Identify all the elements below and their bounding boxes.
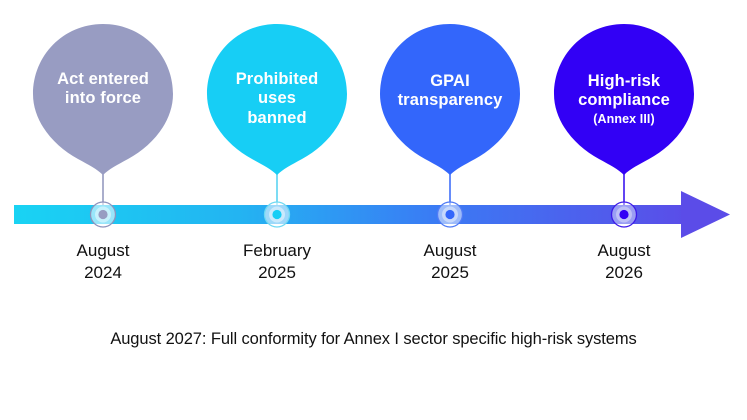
- balloon-act-entered-into-force[interactable]: [33, 24, 173, 175]
- timeline-marker-4[interactable]: [612, 202, 637, 227]
- date-label-2-year: 2025: [207, 262, 347, 284]
- marker-dot-4: [619, 210, 628, 219]
- date-label-3: August 2025: [380, 240, 520, 284]
- date-label-3-month: August: [380, 240, 520, 262]
- date-label-1-month: August: [33, 240, 173, 262]
- balloon-gpai-transparency[interactable]: [380, 24, 520, 175]
- timeline-marker-1[interactable]: [91, 202, 116, 227]
- marker-dot-2: [272, 210, 281, 219]
- date-label-2: February 2025: [207, 240, 347, 284]
- date-label-3-year: 2025: [380, 262, 520, 284]
- date-label-1-year: 2024: [33, 262, 173, 284]
- timeline-arrow-icon: [681, 191, 730, 238]
- balloon-prohibited-uses-banned[interactable]: [207, 24, 347, 175]
- date-label-4-month: August: [554, 240, 694, 262]
- timeline-marker-2[interactable]: [265, 202, 290, 227]
- timeline-canvas: [0, 0, 747, 420]
- balloon-high-risk-compliance[interactable]: [554, 24, 694, 175]
- timeline-footnote: August 2027: Full conformity for Annex I…: [0, 330, 747, 349]
- marker-dot-1: [98, 210, 107, 219]
- date-label-2-month: February: [207, 240, 347, 262]
- date-label-1: August 2024: [33, 240, 173, 284]
- timeline-diagram: Act entered into force Prohibited uses b…: [0, 0, 747, 420]
- marker-dot-3: [445, 210, 454, 219]
- balloon-shapes: [33, 24, 694, 175]
- date-label-4: August 2026: [554, 240, 694, 284]
- date-label-4-year: 2026: [554, 262, 694, 284]
- timeline-marker-3[interactable]: [438, 202, 463, 227]
